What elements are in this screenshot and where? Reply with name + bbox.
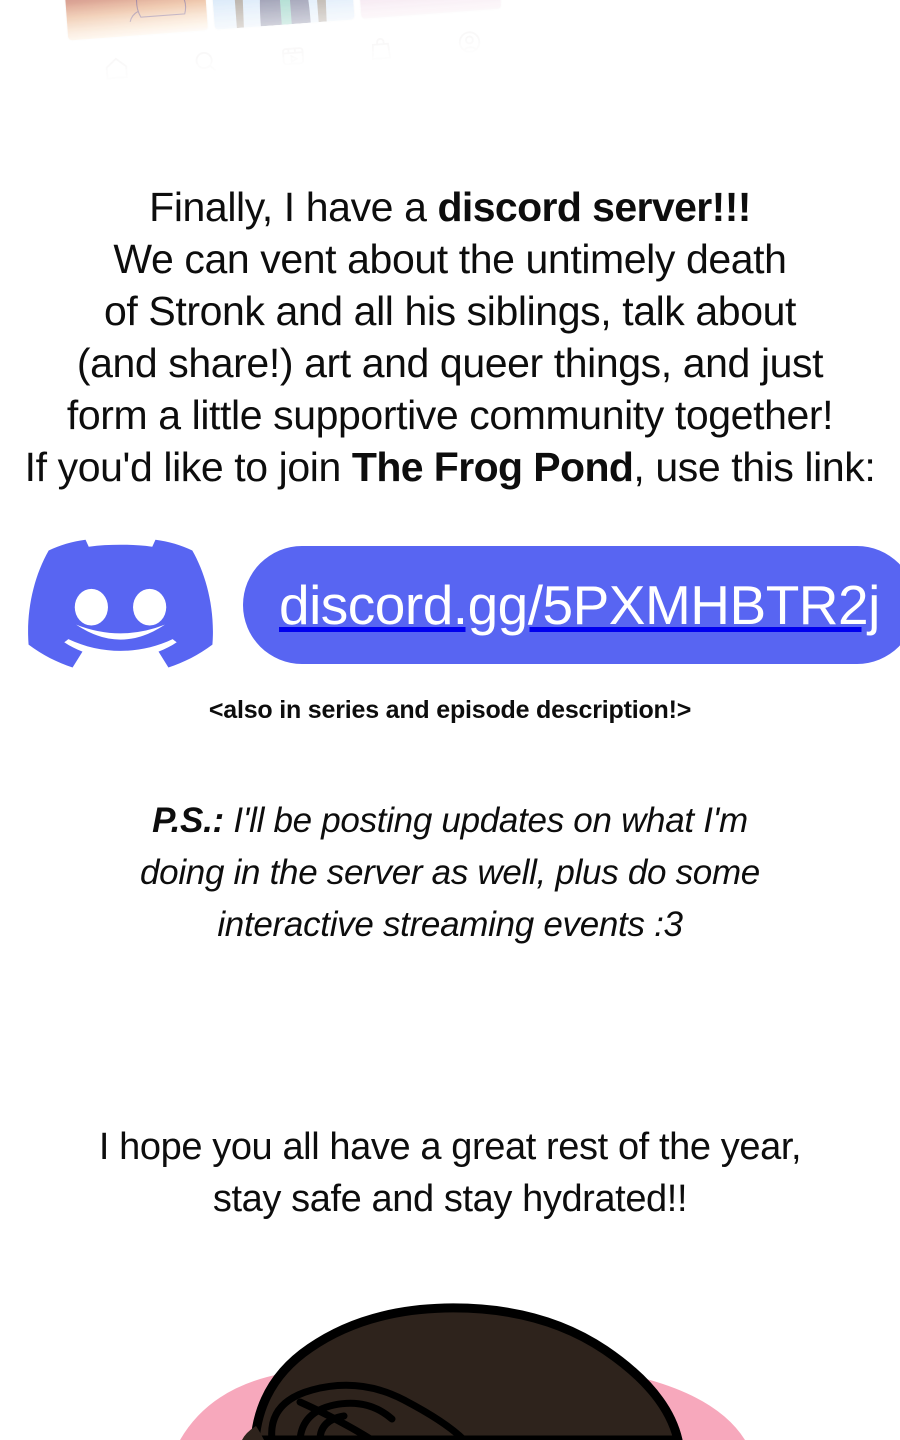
closing-line-2: stay safe and stay hydrated!! [0,1173,900,1225]
character-head-art [0,1280,900,1440]
discord-invite-block: discord.gg/5PXMHBTR2j [0,530,900,680]
intro-line-1: Finally, I have a discord server!!! [0,181,900,233]
ps-line-1: P.S.: I'll be posting updates on what I'… [0,795,900,847]
ps-line-2: doing in the server as well, plus do som… [0,847,900,899]
intro-line-6-suffix: , use this link: [633,444,875,490]
intro-line-5: form a little supportive community toget… [0,389,900,441]
ps-line-3: interactive streaming events :3 [0,899,900,951]
discord-invite-pill[interactable]: discord.gg/5PXMHBTR2j [243,546,900,664]
intro-line-6-prefix: If you'd like to join [25,444,352,490]
discord-invite-url: discord.gg/5PXMHBTR2j [279,578,880,633]
closing-paragraph: I hope you all have a great rest of the … [0,1121,900,1225]
intro-line-4: (and share!) art and queer things, and j… [0,337,900,389]
character-head-illustration [0,1280,900,1440]
intro-line-2: We can vent about the untimely death [0,233,900,285]
ps-line-1-text: I'll be posting updates on what I'm [224,801,748,840]
server-name-emphasis: The Frog Pond [352,444,633,490]
discord-logo [28,535,213,675]
intro-line-1-text: Finally, I have a [149,184,437,230]
postscript-paragraph: P.S.: I'll be posting updates on what I'… [0,795,900,951]
hair-shape [255,1308,678,1440]
discord-server-emphasis: discord server!!! [437,184,750,230]
intro-line-6: If you'd like to join The Frog Pond, use… [0,441,900,493]
ps-label: P.S.: [152,801,224,840]
invite-caption: <also in series and episode description!… [0,694,900,726]
author-note-sheet: Finally, I have a discord server!!! We c… [0,0,900,1440]
intro-paragraph: Finally, I have a discord server!!! We c… [0,181,900,493]
closing-line-1: I hope you all have a great rest of the … [0,1121,900,1173]
intro-line-3: of Stronk and all his siblings, talk abo… [0,285,900,337]
